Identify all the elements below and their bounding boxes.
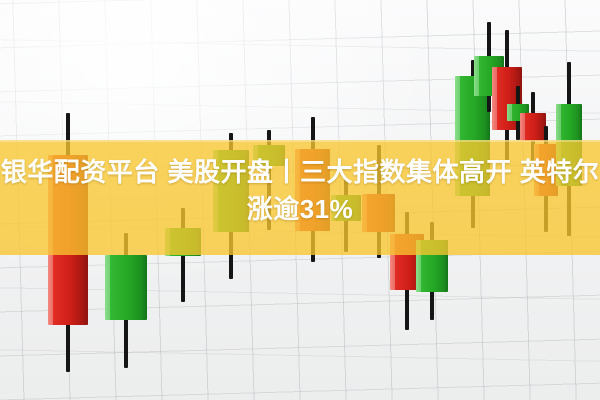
- candlestick-banner-image: 银华配资平台 美股开盘丨三大指数集体高开 英特尔 涨逾31%: [0, 0, 600, 400]
- band-top-edge: [0, 140, 600, 142]
- headline-text: 银华配资平台 美股开盘丨三大指数集体高开 英特尔 涨逾31%: [0, 154, 600, 228]
- headline-line-1: 银华配资平台 美股开盘丨三大指数集体高开 英特尔: [0, 154, 600, 191]
- headline-line-2: 涨逾31%: [0, 191, 600, 228]
- candlestick-body-up: [105, 255, 147, 320]
